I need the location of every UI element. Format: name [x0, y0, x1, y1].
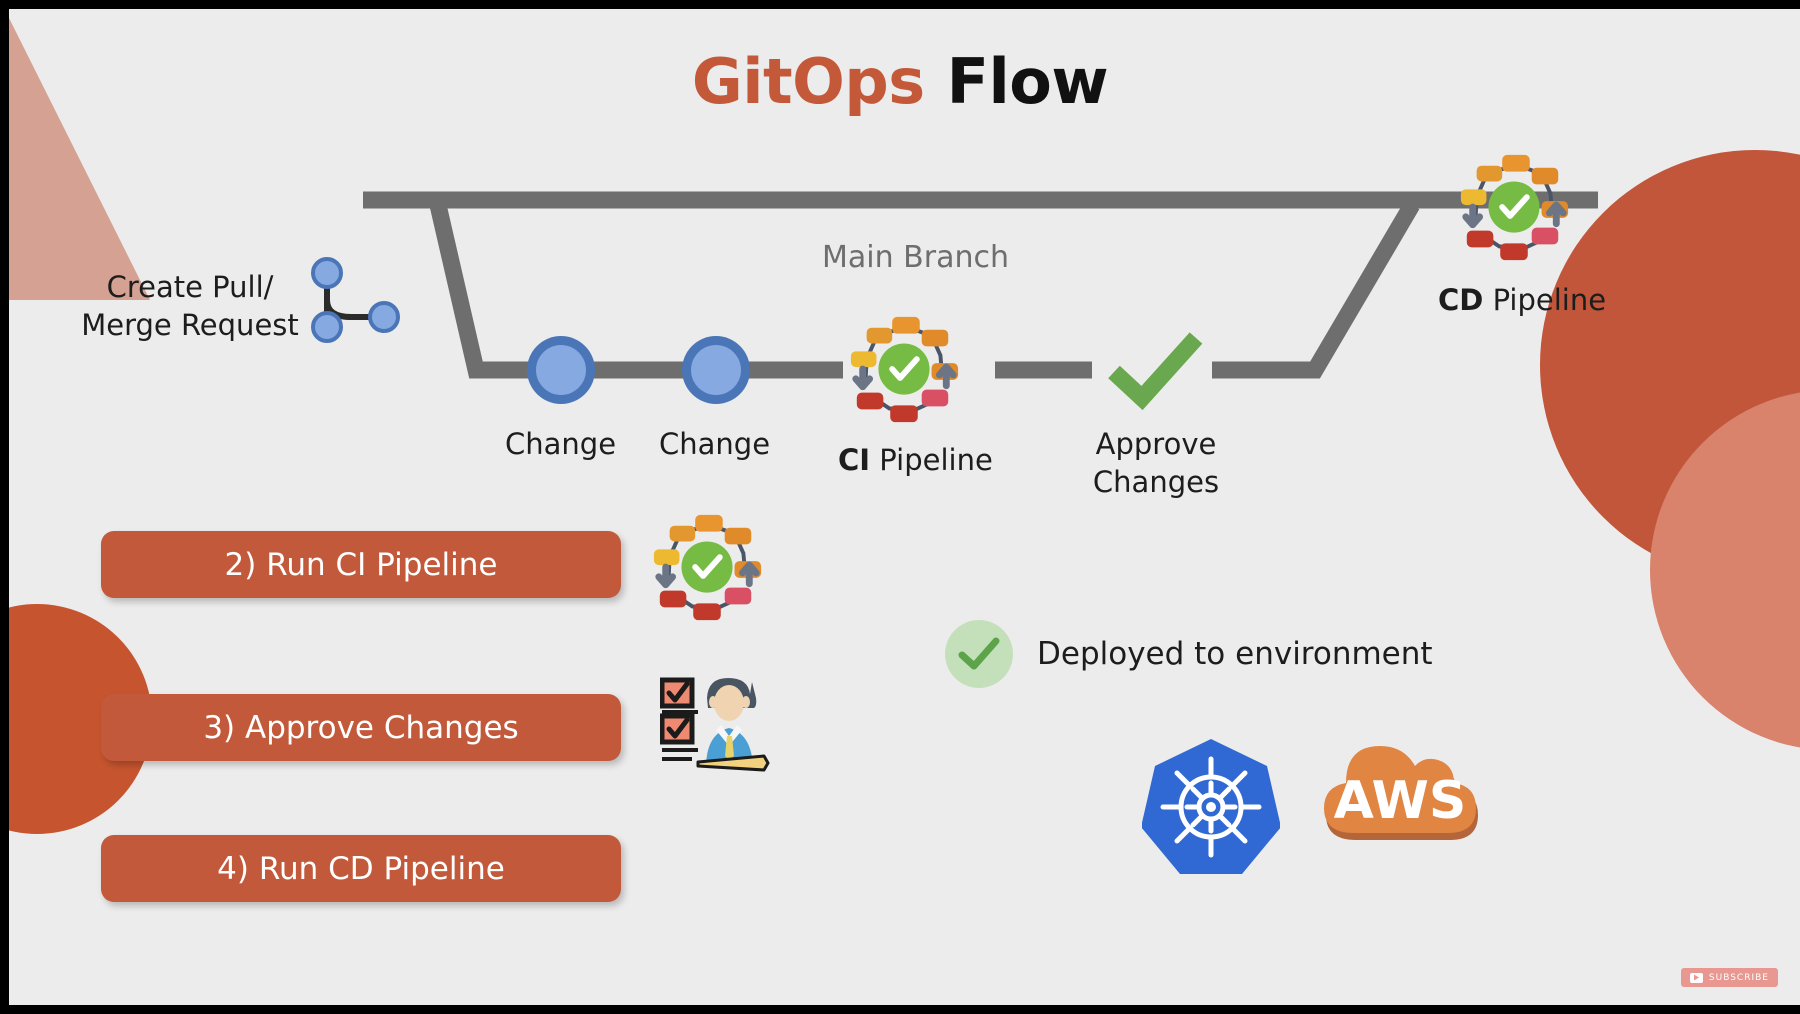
subscribe-label: SUBSCRIBE: [1709, 973, 1769, 983]
pull-request-branch-icon: [305, 255, 405, 345]
btn-run-cd-pipeline[interactable]: 4) Run CD Pipeline: [101, 835, 621, 902]
ci-pipeline-label-bold: CI: [838, 443, 870, 477]
slide-canvas: GitOpsFlow Create Pull/ Merge Request Ma…: [0, 0, 1800, 1014]
btn-run-ci-pipeline[interactable]: 2) Run CI Pipeline: [101, 531, 621, 598]
deployed-check-badge: [945, 620, 1013, 688]
kubernetes-logo: [1142, 735, 1280, 877]
pipeline-success-circle: [878, 343, 929, 394]
cd-pipeline-icon: [1455, 150, 1573, 268]
approver-person-icon: [660, 672, 775, 774]
cd-pipeline-label: CD Pipeline: [1438, 283, 1606, 317]
play-icon: [1690, 973, 1703, 983]
ci-pipeline-icon-legend: [648, 510, 766, 628]
ci-pipeline-label: CI Pipeline: [838, 443, 993, 477]
change-node-1-inner: [536, 345, 586, 395]
change-label-1: Change: [505, 427, 616, 461]
pipeline-arrow-up: [939, 367, 953, 386]
approve-label-line-2: Changes: [1093, 465, 1219, 499]
aws-logo: AWS: [1310, 715, 1490, 860]
aws-label: AWS: [1334, 771, 1467, 831]
subscribe-button[interactable]: SUBSCRIBE: [1681, 968, 1778, 987]
cd-pipeline-label-rest: Pipeline: [1483, 283, 1606, 317]
letterbox-left: [0, 0, 9, 1014]
deployed-status-row: Deployed to environment: [945, 620, 1433, 688]
create-pr-line-1: Create Pull/: [107, 270, 274, 304]
approve-label-line-1: Approve: [1096, 427, 1217, 461]
cd-pipeline-label-bold: CD: [1438, 283, 1483, 317]
check-icon: [957, 636, 1001, 672]
pipeline-node-top: [892, 317, 920, 334]
create-pr-line-2: Merge Request: [81, 308, 299, 342]
main-branch-label: Main Branch: [822, 240, 1009, 275]
btn-approve-changes[interactable]: 3) Approve Changes: [101, 694, 621, 761]
approve-changes-label: Approve Changes: [1086, 425, 1226, 502]
letterbox-bottom: [0, 1005, 1800, 1014]
create-pull-request-label: Create Pull/ Merge Request: [60, 268, 320, 345]
letterbox-top: [0, 0, 1800, 9]
change-node-2-inner: [691, 345, 741, 395]
ci-pipeline-icon: [845, 312, 963, 430]
ci-pipeline-label-rest: Pipeline: [870, 443, 993, 477]
approve-check-icon: [1106, 330, 1204, 410]
change-label-2: Change: [659, 427, 770, 461]
face: [714, 685, 744, 721]
deployed-label: Deployed to environment: [1037, 636, 1433, 672]
